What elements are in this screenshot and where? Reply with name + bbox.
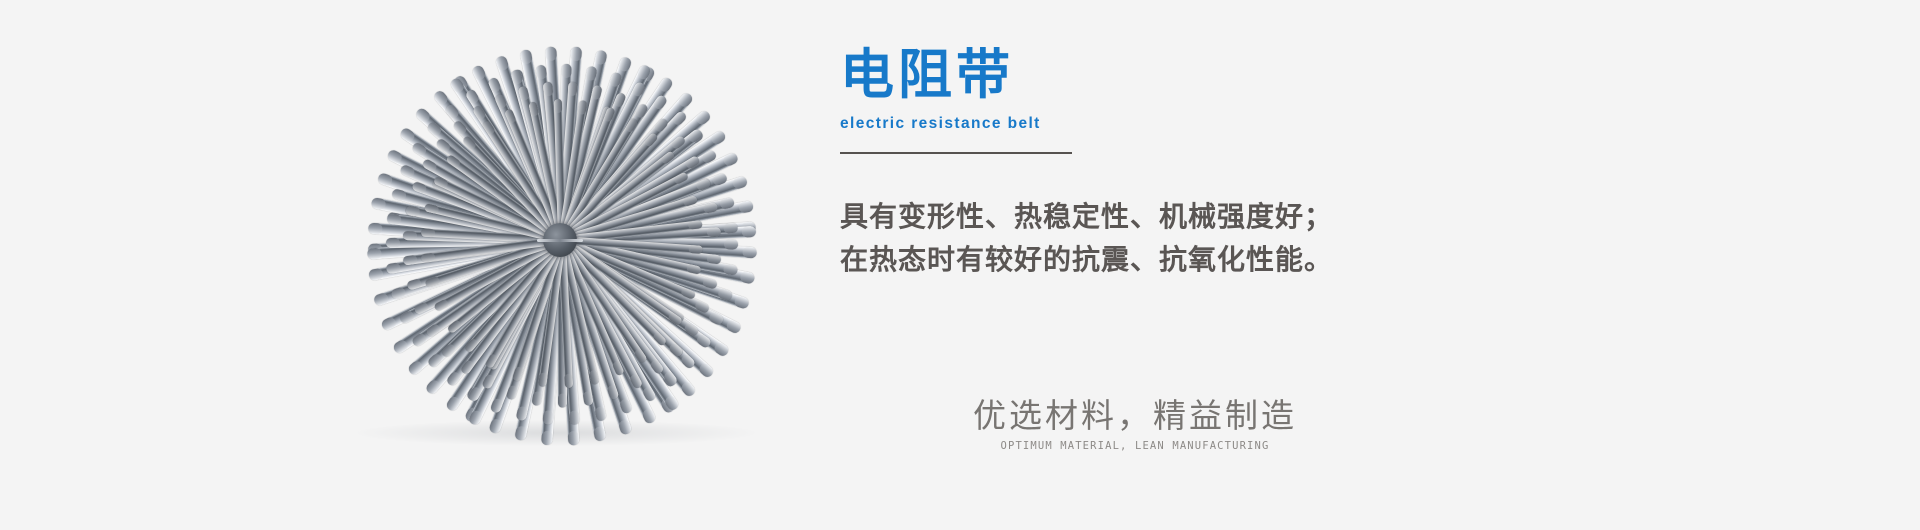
description-line-2: 在热态时有较好的抗震、抗氧化性能。 <box>840 239 1560 282</box>
product-banner: 电阻带 electric resistance belt 具有变形性、热稳定性、… <box>0 0 1920 530</box>
slogan-en: OPTIMUM MATERIAL, LEAN MANUFACTURING <box>955 440 1315 452</box>
text-column: 电阻带 electric resistance belt 具有变形性、热稳定性、… <box>840 46 1560 281</box>
page-subtitle: electric resistance belt <box>840 115 1560 133</box>
product-shadow <box>356 420 756 446</box>
description-block: 具有变形性、热稳定性、机械强度好； 在热态时有较好的抗震、抗氧化性能。 <box>840 196 1560 281</box>
page-title: 电阻带 <box>840 46 1560 104</box>
slogan-watermark: 优选材料，精益制造 OPTIMUM MATERIAL, LEAN MANUFAC… <box>955 398 1315 452</box>
divider <box>840 152 1072 154</box>
product-image <box>300 40 820 440</box>
description-line-1: 具有变形性、热稳定性、机械强度好； <box>840 196 1560 239</box>
bundle-hub-wire <box>537 239 583 242</box>
slogan-zh: 优选材料，精益制造 <box>955 398 1315 435</box>
